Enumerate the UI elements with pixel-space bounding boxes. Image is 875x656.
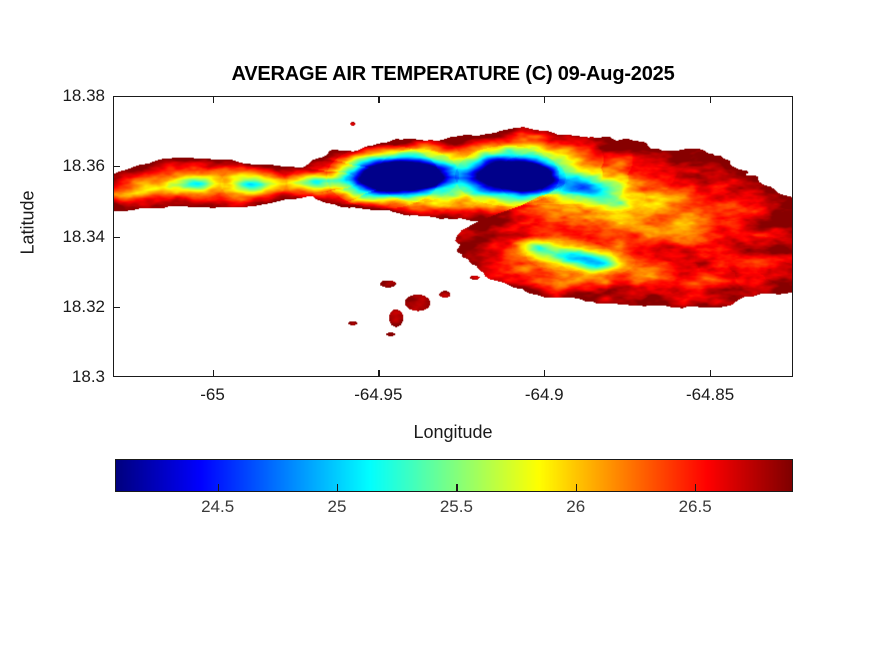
colorbar-tick xyxy=(576,484,577,492)
temperature-heatmap xyxy=(114,97,792,376)
y-tick-label: 18.38 xyxy=(5,86,105,106)
x-tick xyxy=(213,370,214,377)
colorbar-tick xyxy=(456,484,457,492)
x-tick-label: -64.95 xyxy=(354,385,402,405)
x-tick xyxy=(378,370,379,377)
y-axis-label: Latitude xyxy=(18,163,39,283)
colorbar-tick-label: 25 xyxy=(328,497,347,517)
colorbar-tick xyxy=(337,484,338,492)
map-axes[interactable] xyxy=(113,96,793,377)
x-tick-label: -65 xyxy=(200,385,225,405)
x-axis-label: Longitude xyxy=(113,422,793,443)
x-tick xyxy=(544,96,545,103)
x-tick xyxy=(378,96,379,103)
y-tick xyxy=(113,166,120,167)
colorbar-tick-label: 24.5 xyxy=(201,497,234,517)
page-title: AVERAGE AIR TEMPERATURE (C) 09-Aug-2025 xyxy=(113,63,793,86)
x-tick xyxy=(710,96,711,103)
x-tick xyxy=(710,370,711,377)
colorbar-tick-label: 26.5 xyxy=(679,497,712,517)
x-tick-label: -64.85 xyxy=(686,385,734,405)
y-tick xyxy=(113,307,120,308)
x-tick xyxy=(213,96,214,103)
y-tick-label: 18.3 xyxy=(5,367,105,387)
colorbar-tick-label: 26 xyxy=(566,497,585,517)
colorbar-tick-label: 25.5 xyxy=(440,497,473,517)
y-tick xyxy=(113,237,120,238)
y-tick-label: 18.32 xyxy=(5,297,105,317)
colorbar-tick xyxy=(218,484,219,492)
colorbar-tick xyxy=(695,484,696,492)
x-tick xyxy=(544,370,545,377)
figure-canvas: AVERAGE AIR TEMPERATURE (C) 09-Aug-2025 … xyxy=(0,0,875,656)
x-tick-label: -64.9 xyxy=(525,385,564,405)
